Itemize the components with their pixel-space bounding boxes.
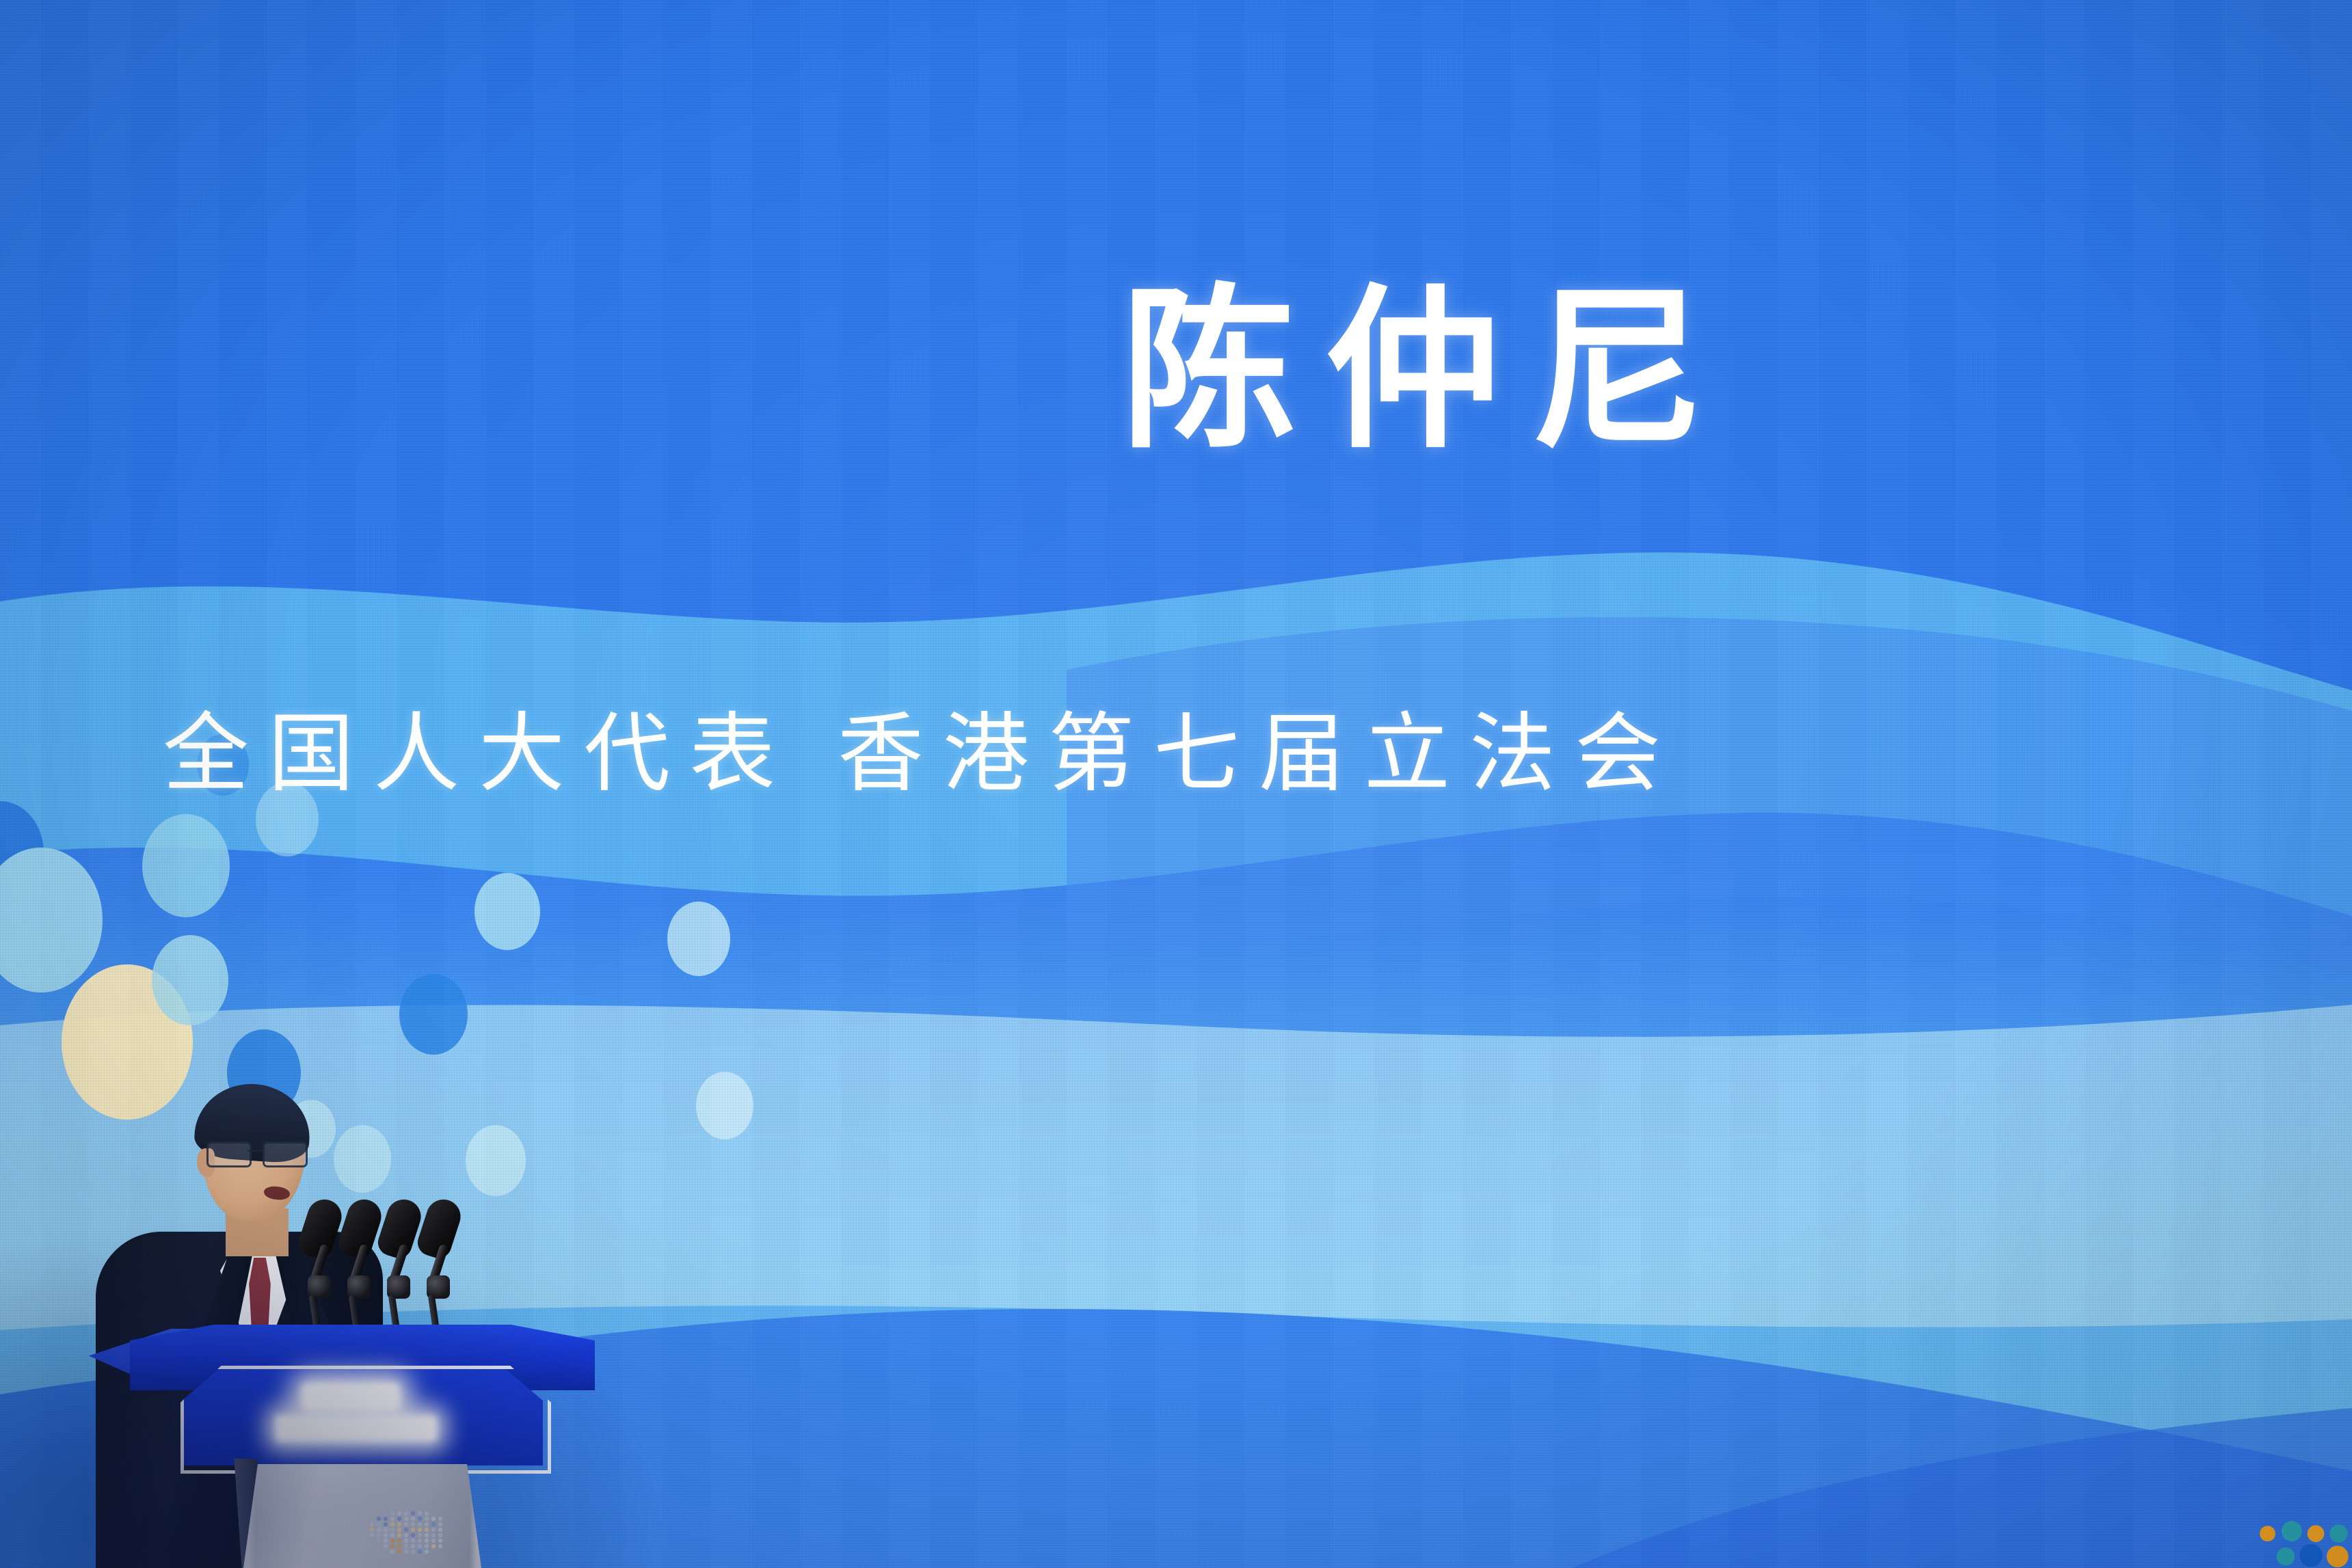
corner-dot-logo [2249,1506,2352,1568]
eyeglass-lens-right [263,1141,308,1167]
podium-logo-dot [418,1517,422,1521]
podium-logo-dot [411,1517,415,1521]
podium-logo-dot [397,1522,401,1526]
podium-logo-dot [390,1544,395,1548]
podium-logo-dot [425,1539,429,1543]
podium-logo-dot [418,1550,422,1554]
podium-logo-dot [404,1544,408,1548]
podium-logo-dot [431,1533,436,1537]
corner-logo-dot [2282,1521,2302,1541]
podium-logo-dot [418,1511,422,1515]
podium-logo-dot [404,1528,408,1532]
podium-logo-dot [425,1522,429,1526]
podium-logo-dot [411,1522,415,1526]
podium-logo-dot [390,1539,395,1543]
podium-logo-dot [397,1533,401,1537]
podium-logo-dot [418,1528,422,1532]
podium-logo-dot [370,1533,374,1537]
podium-logo-dot [377,1522,381,1526]
microphone-cluster [301,1199,492,1336]
podium-logo-dot [411,1539,415,1543]
podium-logo-dot [390,1517,395,1521]
podium-logo-dot [425,1511,429,1515]
podium-logo-dot [384,1544,388,1548]
podium-mosaic-logo [335,1497,458,1565]
microphone [420,1199,458,1336]
podium-logo-dot [411,1550,415,1554]
podium-logo-dot [425,1544,429,1548]
podium-logo-dot [404,1511,408,1515]
podium-logo-dot [384,1528,388,1532]
podium-logo-dot [384,1522,388,1526]
podium-logo-dot [431,1539,436,1543]
podium-logo-dot [390,1550,395,1554]
eyeglass-bridge [248,1150,263,1152]
podium-logo-dot [377,1539,381,1543]
corner-logo-dot [2308,1525,2325,1542]
podium-logo-dot [384,1517,388,1521]
podium-logo-dot [431,1522,436,1526]
screenshot-root: 陈仲尼 全国人大代表 香港第七届立法会 [0,0,2352,1568]
microphone [340,1199,379,1336]
podium-logo-dot [418,1544,422,1548]
podium-logo-dot [370,1522,374,1526]
podium-logo-dot [418,1533,422,1537]
microphone [380,1199,418,1336]
podium-logo-dot [431,1528,436,1532]
podium-logo-dot [404,1522,408,1526]
podium-logo-dot [438,1522,442,1526]
podium-logo-dot [425,1533,429,1537]
podium-logo-dot [425,1517,429,1521]
podium-logo-dot [390,1522,395,1526]
podium-logo-dot [411,1533,415,1537]
podium-logo-dot [397,1511,401,1515]
podium-logo-dot [404,1550,408,1554]
podium-logo-dot [377,1533,381,1537]
podium-logo-dot [438,1533,442,1537]
corner-logo-dot [2260,1526,2275,1541]
podium-logo-dot [438,1517,442,1521]
speaker-role-subtitle: 全国人大代表 香港第七届立法会 [163,711,1680,797]
podium-logo-dot [418,1539,422,1543]
podium-logo-dot [431,1544,436,1548]
podium-logo-dot [377,1528,381,1532]
podium-illuminated-text-line-2 [275,1415,438,1442]
podium-logo-dot [397,1550,401,1554]
corner-logo-dot [2327,1545,2349,1567]
speaker-name-title: 陈仲尼 [1121,280,1735,461]
podium-logo-dot [425,1550,429,1554]
corner-logo-dot [2329,1524,2347,1542]
podium-logo-dot [384,1539,388,1543]
podium-logo-dot [390,1533,395,1537]
podium [130,1325,595,1568]
podium-logo-dot [390,1511,395,1515]
podium-illuminated-text-line-1 [301,1382,401,1412]
podium-logo-dot [425,1528,429,1532]
podium-logo-dot [390,1528,395,1532]
podium-logo-dot [397,1528,401,1532]
podium-logo-dot [411,1528,415,1532]
podium-logo-dot [438,1544,442,1548]
podium-logo-dot [404,1517,408,1521]
corner-logo-dot [2299,1544,2323,1567]
microphone [301,1199,339,1336]
podium-logo-dot [404,1539,408,1543]
podium-logo-dot [438,1539,442,1543]
corner-logo-dot [2277,1547,2295,1565]
podium-logo-dot [397,1544,401,1548]
podium-logo-dot [384,1533,388,1537]
podium-logo-dot [411,1511,415,1515]
podium-logo-dot [370,1528,374,1532]
podium-logo-dot [418,1522,422,1526]
podium-logo-dot [377,1517,381,1521]
podium-logo-dot [397,1539,401,1543]
eyeglass-lens-left [206,1141,252,1167]
podium-logo-dot [431,1517,436,1521]
podium-logo-dot [438,1528,442,1532]
eyeglasses-icon [205,1141,309,1165]
podium-logo-dot [404,1533,408,1537]
stage-foreground [0,1053,684,1568]
podium-logo-dot [411,1544,415,1548]
podium-logo-dot [397,1517,401,1521]
